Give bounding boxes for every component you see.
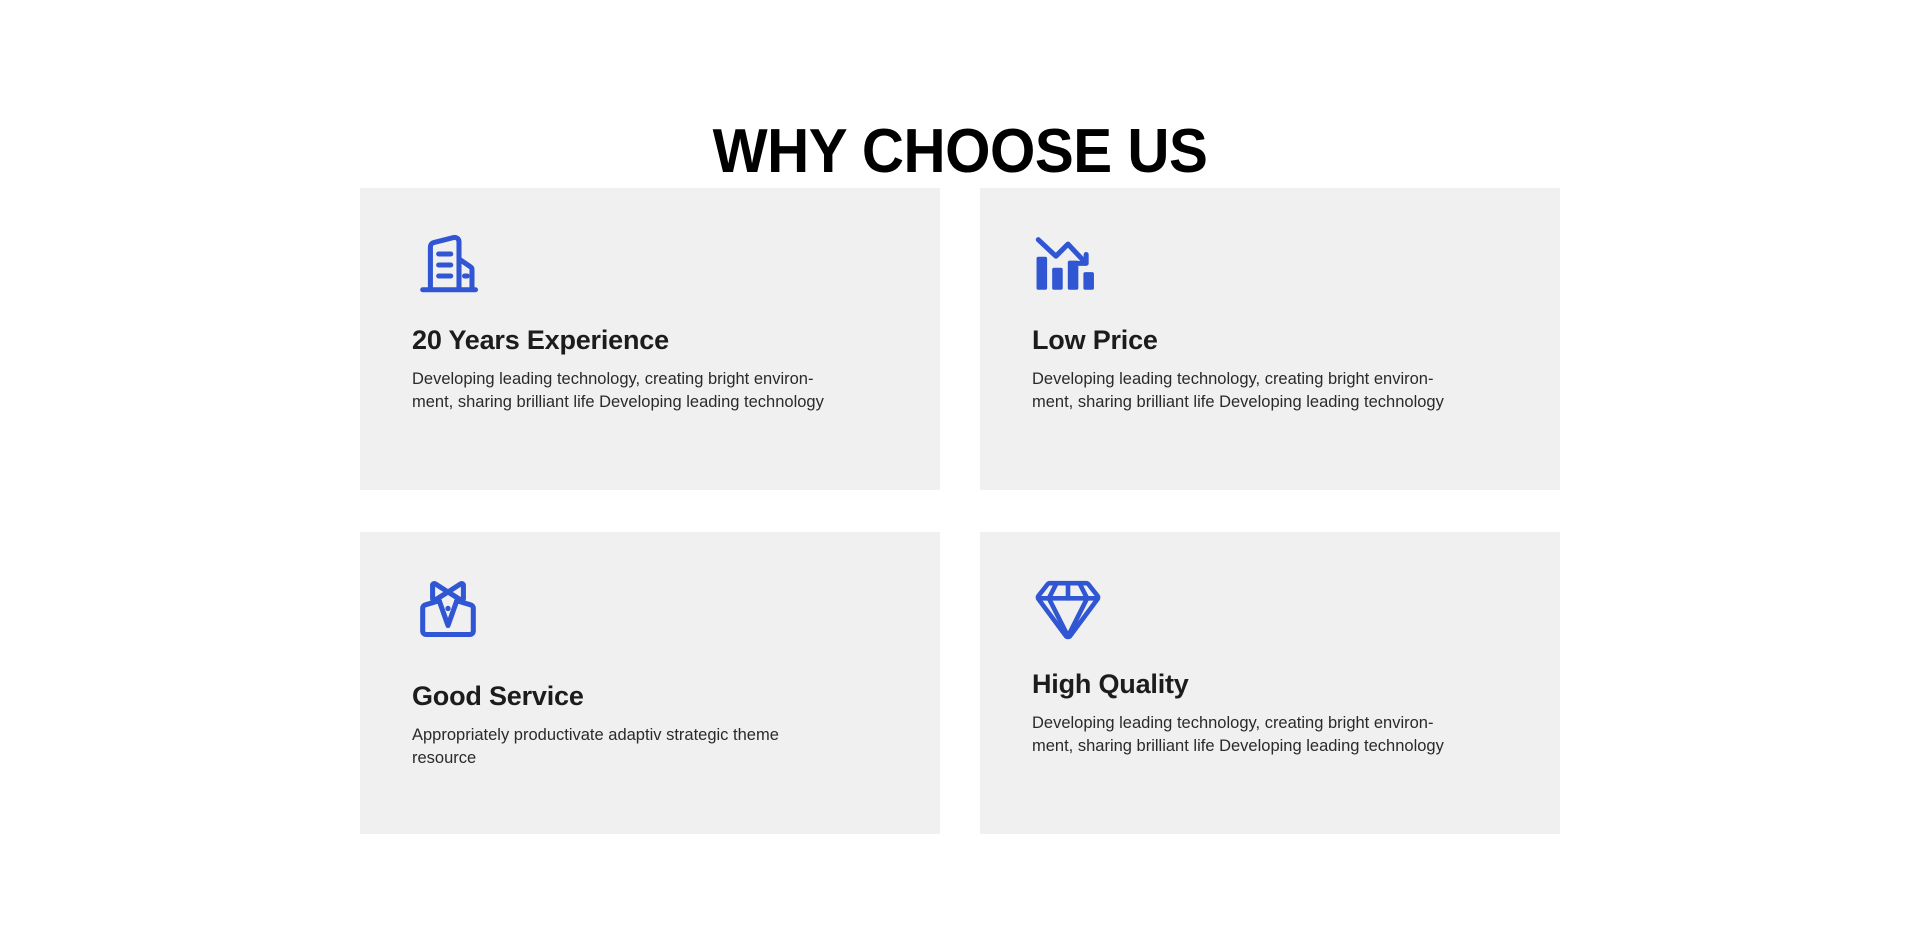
feature-card-title: Low Price [1032, 324, 1508, 356]
feature-card-experience[interactable]: 20 Years Experience Developing leading t… [360, 188, 940, 490]
feature-card-low-price[interactable]: Low Price Developing leading technology,… [980, 188, 1560, 490]
diamond-gem-icon [1032, 576, 1104, 642]
feature-cards-grid: 20 Years Experience Developing leading t… [360, 188, 1560, 834]
feature-card-title: Good Service [412, 680, 888, 712]
tuxedo-bowtie-icon [412, 576, 484, 642]
feature-card-text: Developing leading technology, creating … [1032, 712, 1452, 757]
feature-card-good-service[interactable]: Good Service Appropriately productivate … [360, 532, 940, 834]
feature-card-text: Developing leading technology, creating … [412, 368, 832, 413]
page-title: WHY CHOOSE US [58, 116, 1863, 188]
office-building-icon [412, 232, 484, 298]
declining-bar-chart-icon [1032, 232, 1104, 298]
feature-card-text: Appropriately productivate adaptiv strat… [412, 724, 832, 769]
why-choose-us-section: WHY CHOOSE US 20 Years Experience Develo… [0, 0, 1920, 930]
feature-card-high-quality[interactable]: High Quality Developing leading technolo… [980, 532, 1560, 834]
feature-card-title: High Quality [1032, 668, 1508, 700]
feature-card-title: 20 Years Experience [412, 324, 888, 356]
feature-card-text: Developing leading technology, creating … [1032, 368, 1452, 413]
